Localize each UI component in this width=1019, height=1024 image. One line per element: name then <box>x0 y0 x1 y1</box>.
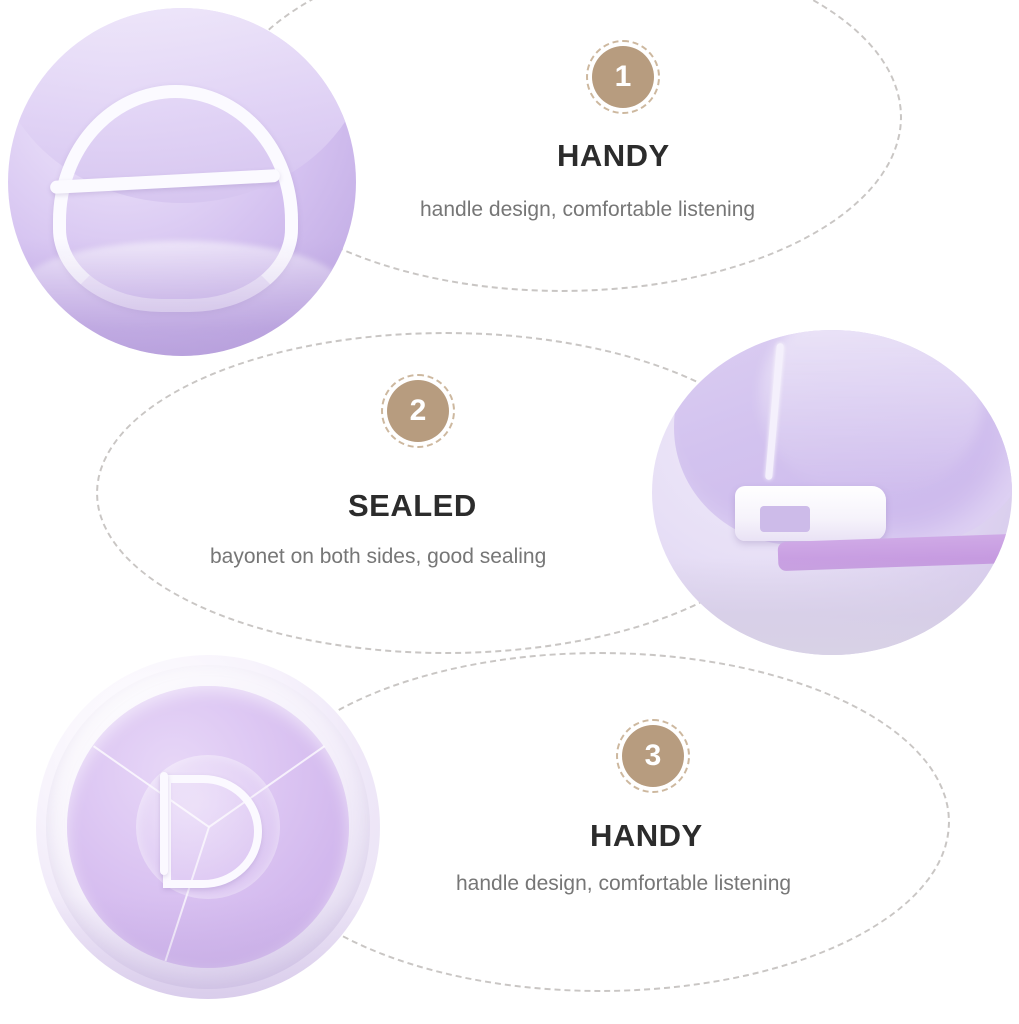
infographic-page: 1 HANDY handle design, comfortable liste… <box>0 0 1019 1024</box>
feature-badge-1-number: 1 <box>615 60 632 94</box>
feature-title-2: SEALED <box>348 488 477 524</box>
feature-title-1: HANDY <box>557 138 670 174</box>
white-handle-straight-edge <box>160 772 168 875</box>
product-photo-lid-top-view <box>36 655 380 999</box>
feature-description-1: handle design, comfortable listening <box>420 198 755 222</box>
feature-description-3: handle design, comfortable listening <box>456 872 791 896</box>
lid-bottom-shadow <box>36 896 380 999</box>
feature-title-3: HANDY <box>590 818 703 854</box>
surface-shadow <box>652 558 1012 656</box>
feature-badge-2: 2 <box>387 380 449 442</box>
bayonet-notch <box>760 506 810 532</box>
feature-description-2: bayonet on both sides, good sealing <box>210 545 546 569</box>
product-photo-bayonet-latch-closeup <box>652 330 1012 655</box>
feature-badge-1: 1 <box>592 46 654 108</box>
feature-badge-3-number: 3 <box>645 739 662 773</box>
lid-bottom-shadow <box>8 238 356 356</box>
feature-badge-2-number: 2 <box>410 394 427 428</box>
white-bayonet-clip <box>735 486 886 541</box>
product-photo-lid-with-handle <box>8 8 356 356</box>
feature-badge-3: 3 <box>622 725 684 787</box>
